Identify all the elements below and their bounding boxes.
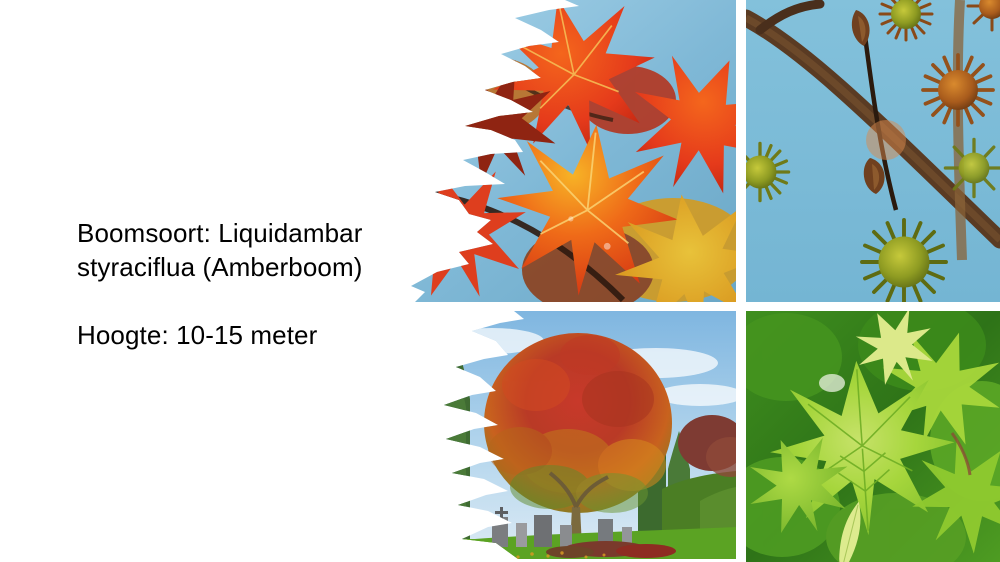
species-line-1: Boomsoort: Liquidambar (77, 216, 367, 250)
green-leaves-photo-graphic (746, 311, 1000, 562)
full-tree-photo-graphic (400, 311, 736, 559)
autumn-leaves-photo[interactable] (373, 0, 736, 302)
seedpods-buds-photo[interactable] (746, 0, 1000, 302)
green-leaves-photo[interactable] (746, 311, 1000, 562)
slide-canvas: Boomsoort: Liquidambar styraciflua (Ambe… (0, 0, 1000, 562)
seedpods-buds-photo-graphic (746, 0, 1000, 302)
paragraph-gap (77, 284, 367, 318)
autumn-leaves-photo-graphic (373, 0, 736, 302)
slide-text-block: Boomsoort: Liquidambar styraciflua (Ambe… (77, 216, 367, 352)
full-tree-photo[interactable] (400, 311, 736, 559)
height-line: Hoogte: 10-15 meter (77, 318, 367, 352)
species-line-2: styraciflua (Amberboom) (77, 250, 367, 284)
